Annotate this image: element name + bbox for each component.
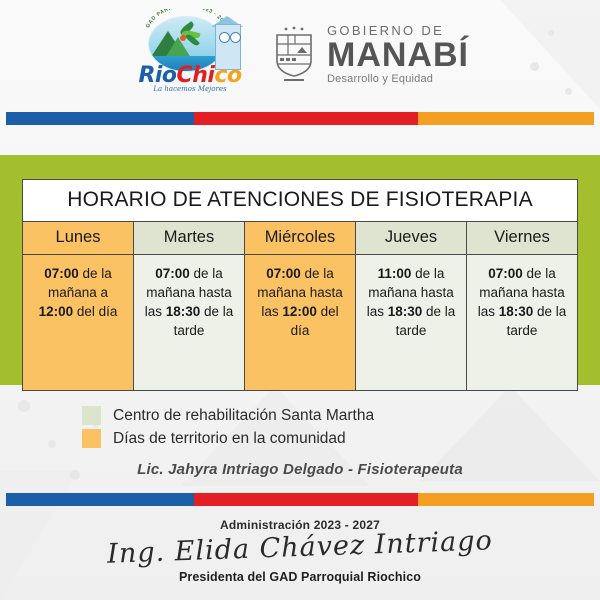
table-header-row: Lunes Martes Miércoles Jueves Viernes <box>23 222 578 255</box>
bar-segment-blue <box>6 112 194 125</box>
riochico-wordmark: RioChico <box>131 65 249 87</box>
legend-swatch-orange <box>82 429 101 448</box>
manabi-logo: GOBIERNO DE MANABÍ Desarrollo y Equidad <box>271 24 469 85</box>
manabi-shield-icon <box>271 25 317 83</box>
bar-segment-red-bottom <box>194 493 417 506</box>
bar-segment-orange-bottom <box>418 493 594 506</box>
manabi-wordmark: GOBIERNO DE MANABÍ Desarrollo y Equidad <box>327 24 469 85</box>
bar-segment-orange <box>418 112 594 125</box>
bg-dot-2 <box>48 440 56 448</box>
legend: Centro de rehabilitación Santa Martha Dí… <box>82 404 522 450</box>
time-start-viernes: 07:00 <box>488 266 523 281</box>
schedule-table-wrapper: HORARIO DE ATENCIONES DE FISIOTERAPIA Lu… <box>22 179 578 391</box>
bg-dot-1 <box>18 400 30 412</box>
manabi-line-tagline: Desarrollo y Equidad <box>327 74 469 85</box>
tricolor-bar-top <box>6 112 594 125</box>
tricolor-bar-bottom <box>6 493 594 506</box>
bar-segment-red <box>194 112 417 125</box>
table-title-row: HORARIO DE ATENCIONES DE FISIOTERAPIA <box>23 180 578 222</box>
time-start-jueves: 11:00 <box>378 266 412 281</box>
manabi-line-name: MANABÍ <box>327 38 469 72</box>
schedule-title: HORARIO DE ATENCIONES DE FISIOTERAPIA <box>23 180 578 222</box>
day-header-martes: Martes <box>134 222 245 255</box>
time-end-jueves: 18:30 <box>388 304 423 319</box>
schedule-panel: HORARIO DE ATENCIONES DE FISIOTERAPIA Lu… <box>0 155 600 385</box>
time-start-lunes: 07:00 <box>44 266 79 281</box>
schedule-table: HORARIO DE ATENCIONES DE FISIOTERAPIA Lu… <box>22 179 578 391</box>
poster-canvas: GAD PARROQUIAL 2023 - 2027 RioChico La h… <box>0 0 600 600</box>
riochico-clocktower-icon <box>209 12 243 68</box>
time-suffix-lunes: del día <box>73 304 117 319</box>
manabi-line-gobierno: GOBIERNO DE <box>327 24 469 37</box>
day-header-jueves: Jueves <box>356 222 467 255</box>
day-header-miercoles: Miércoles <box>245 222 356 255</box>
legend-label-rehab: Centro de rehabilitación Santa Martha <box>113 407 374 425</box>
schedule-cell-lunes: 07:00 de la mañana a 12:00 del día <box>23 255 134 391</box>
time-end-miercoles: 12:00 <box>282 304 317 319</box>
time-end-lunes: 12:00 <box>39 304 74 319</box>
day-header-lunes: Lunes <box>23 222 134 255</box>
schedule-cell-viernes: 07:00 de la mañana hasta las 18:30 de la… <box>467 255 578 391</box>
time-start-martes: 07:00 <box>155 266 190 281</box>
bar-segment-blue-bottom <box>6 493 194 506</box>
schedule-cell-miercoles: 07:00 de la mañana hasta las 12:00 del d… <box>245 255 356 391</box>
time-start-miercoles: 07:00 <box>266 266 301 281</box>
time-end-martes: 18:30 <box>166 304 201 319</box>
riochico-slogan: La hacemos Mejores <box>131 85 249 93</box>
header-logos: GAD PARROQUIAL 2023 - 2027 RioChico La h… <box>0 0 600 108</box>
schedule-cell-martes: 07:00 de la mañana hasta las 18:30 de la… <box>134 255 245 391</box>
legend-item-rehab: Centro de rehabilitación Santa Martha <box>82 404 522 427</box>
president-title: Presidenta del GAD Parroquial Riochico <box>0 570 600 584</box>
riochico-logo: GAD PARROQUIAL 2023 - 2027 RioChico La h… <box>131 8 249 100</box>
schedule-cell-jueves: 11:00 de la mañana hasta las 18:30 de la… <box>356 255 467 391</box>
legend-swatch-green <box>82 406 101 425</box>
legend-item-territorio: Días de territorio en la comunidad <box>82 427 522 450</box>
day-header-viernes: Viernes <box>467 222 578 255</box>
legend-label-territorio: Días de territorio en la comunidad <box>113 430 346 448</box>
therapist-credit: Lic. Jahyra Intriago Delgado - Fisiotera… <box>0 461 600 478</box>
time-end-viernes: 18:30 <box>499 304 534 319</box>
table-body-row: 07:00 de la mañana a 12:00 del día 07:00… <box>23 255 578 391</box>
